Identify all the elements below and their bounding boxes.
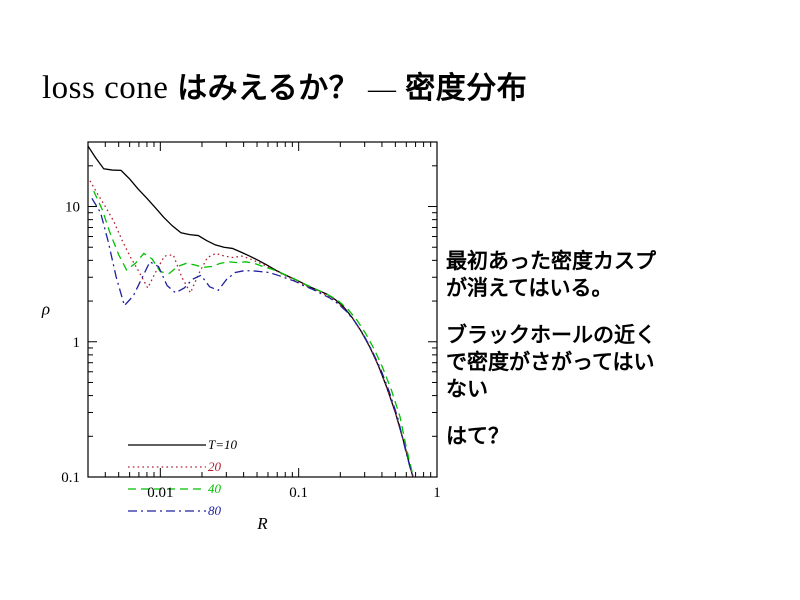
note-line: ブラックホールの近く <box>446 322 776 349</box>
page-title: loss cone はみえるか？ — 密度分布 <box>42 68 527 110</box>
y-tick-label: 10 <box>65 200 80 216</box>
legend-label-1: 20 <box>208 459 222 474</box>
chart-svg: T=10204080 0.010.110.1110Rρ <box>0 120 460 540</box>
note-line: はて？ <box>446 423 776 450</box>
note-line: で密度がさがってはい <box>446 349 776 376</box>
x-tick-label: 0.01 <box>147 485 173 501</box>
y-tick-label: 0.1 <box>61 470 80 486</box>
title-jp-subject: 密度分布 <box>405 71 527 106</box>
chart-axis-labels: 0.010.110.1110Rρ <box>41 200 441 533</box>
y-axis-label: ρ <box>41 300 50 319</box>
note-question: はて？ <box>446 423 776 450</box>
x-axis-label: R <box>256 514 268 533</box>
series-line-2 <box>94 191 414 477</box>
series-line-0 <box>88 146 413 477</box>
note-line: 最初あった密度カスプ <box>446 248 776 275</box>
x-tick-label: 0.1 <box>289 485 308 501</box>
note-line: が消えてはいる。 <box>446 275 776 302</box>
y-tick-label: 1 <box>73 335 81 351</box>
title-jp-question: はみえるか？ <box>177 71 359 106</box>
title-latin-text: loss cone <box>42 70 168 106</box>
x-tick-label: 1 <box>433 485 441 501</box>
note-blackhole: ブラックホールの近くで密度がさがってはいない <box>446 322 776 403</box>
series-line-1 <box>90 181 413 477</box>
chart-series <box>88 146 413 477</box>
density-profile-chart: T=10204080 0.010.110.1110Rρ <box>0 120 460 540</box>
note-cusp: 最初あった密度カスプが消えてはいる。 <box>446 248 776 302</box>
legend-label-2: 40 <box>208 481 222 496</box>
legend-label-3: 80 <box>208 503 222 518</box>
legend-label-0: T=10 <box>208 437 238 452</box>
notes-panel: 最初あった密度カスプが消えてはいる。 ブラックホールの近くで密度がさがってはいな… <box>446 248 776 450</box>
presentation-slide: loss cone はみえるか？ — 密度分布 T=10204080 0.010… <box>0 0 800 600</box>
title-em-dash: — <box>368 74 397 105</box>
series-line-3 <box>92 198 413 477</box>
note-line: ない <box>446 376 776 403</box>
